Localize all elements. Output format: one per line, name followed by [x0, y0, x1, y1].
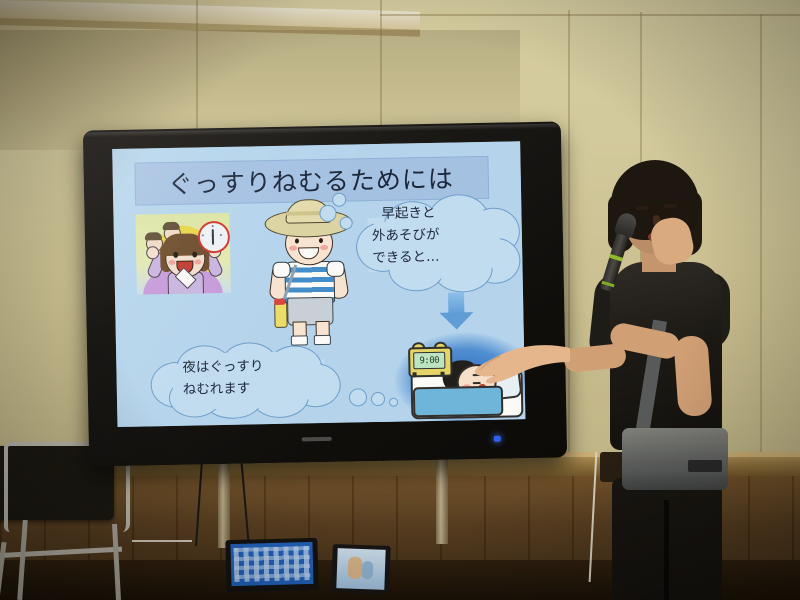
- thought-bubble-bottom-line1: 夜はぐっすり: [182, 358, 263, 377]
- presenter: [556, 160, 766, 600]
- blanket: [413, 386, 504, 418]
- down-arrow-head: [439, 312, 473, 330]
- chair-seat-bar: [0, 547, 122, 559]
- laptop-keyboard-overlay: [234, 546, 311, 582]
- alarm-leg-left: [413, 372, 417, 377]
- tv-stand-pole: [218, 460, 230, 548]
- girl-eye-right: [192, 251, 197, 257]
- water-bottle-cap: [274, 299, 285, 305]
- folding-chair: [0, 446, 144, 600]
- thought-bubble-top-line1: 早起きと: [381, 205, 435, 224]
- presenter-leg-gap: [664, 500, 669, 600]
- boy-sleeve-left: [272, 262, 290, 278]
- tv-screen: ぐっすりねむるためには: [112, 141, 525, 427]
- laptop[interactable]: [225, 538, 318, 592]
- alarm-clock-time: 9:00: [419, 355, 439, 365]
- tv-stand-pole: [436, 458, 448, 544]
- thought-bubble-top-line3: できると…: [372, 249, 440, 268]
- chair-leg: [112, 524, 121, 600]
- thought-dot: [349, 388, 367, 406]
- boy-eye-left: [295, 238, 299, 243]
- boy-sleeve-right: [326, 261, 344, 277]
- water-bottle: [274, 302, 287, 328]
- tv-brand-logo: [302, 437, 332, 442]
- wall-clock-icon: [198, 221, 231, 254]
- alarm-clock-display: 9:00: [413, 352, 445, 370]
- thought-bubble-top-line2: 外あそびが: [372, 227, 440, 246]
- chair-leg: [0, 542, 7, 600]
- thought-dot: [389, 398, 398, 407]
- white-cable: [132, 540, 192, 544]
- wall-horizontal-seam: [380, 14, 800, 16]
- down-arrow-shaft: [448, 292, 464, 314]
- waking-girl-illustration: [135, 213, 231, 295]
- presenter-right-forearm: [673, 335, 712, 417]
- presentation-slide: ぐっすりねむるためには: [112, 141, 525, 427]
- photo-scene: ぐっすりねむるためには: [0, 0, 800, 600]
- flat-panel-display[interactable]: ぐっすりねむるためには: [83, 121, 567, 466]
- hand-icon: [474, 342, 570, 384]
- girl-eye-left: [173, 252, 178, 258]
- pointing-hand: [474, 342, 570, 384]
- tablet-image-figure: [362, 561, 374, 579]
- alarm-leg-right: [441, 372, 445, 377]
- thought-bubble-bottom-line2: ねむれます: [183, 380, 251, 399]
- power-led-icon: [494, 436, 501, 442]
- tablet[interactable]: [331, 544, 391, 594]
- shoulder-bag: [622, 428, 728, 490]
- tablet-image-figure: [348, 557, 363, 579]
- thought-dot: [371, 392, 385, 406]
- boy-eye-right: [319, 238, 323, 243]
- bag-tag: [688, 460, 722, 472]
